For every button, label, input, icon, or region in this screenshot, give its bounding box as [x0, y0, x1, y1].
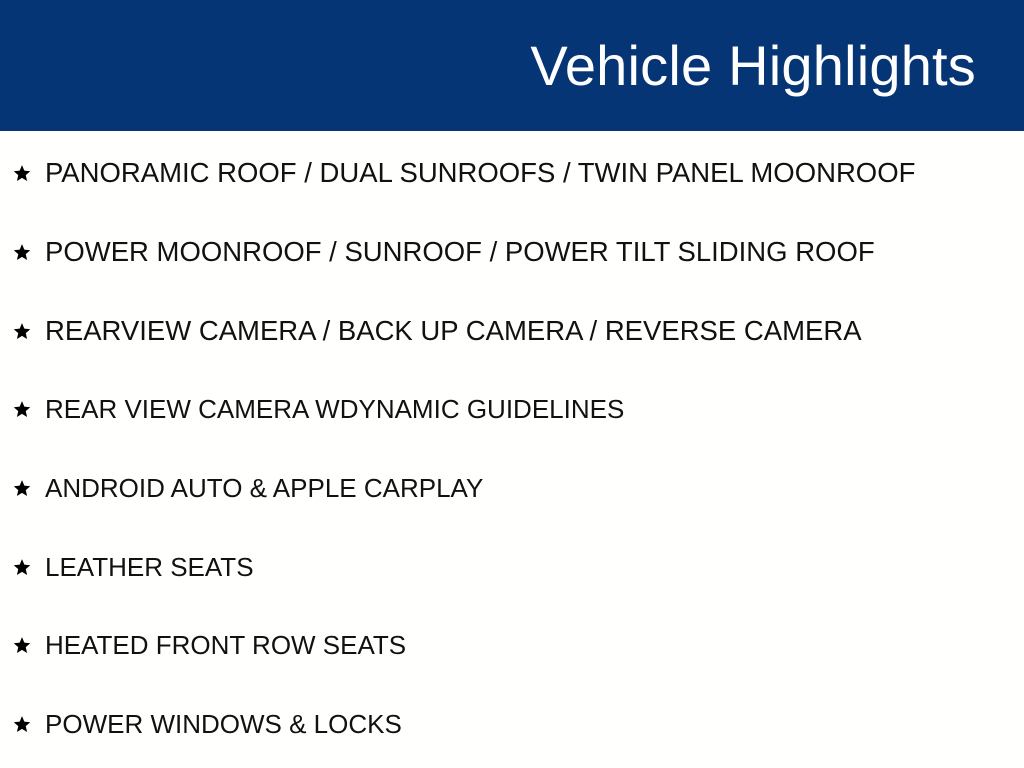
list-item: REARVIEW CAMERA / BACK UP CAMERA / REVER… [13, 311, 1024, 351]
star-icon [13, 239, 31, 265]
star-icon [13, 711, 31, 737]
page-header-banner: Vehicle Highlights [0, 0, 1024, 131]
list-item-label: POWER WINDOWS & LOCKS [45, 710, 402, 739]
list-item-label: ANDROID AUTO & APPLE CARPLAY [45, 474, 483, 503]
list-item: REAR VIEW CAMERA WDYNAMIC GUIDELINES [13, 389, 1024, 429]
star-icon [13, 475, 31, 501]
list-item: POWER WINDOWS & LOCKS [13, 704, 1024, 744]
page-title: Vehicle Highlights [530, 38, 976, 94]
list-item-label: POWER MOONROOF / SUNROOF / POWER TILT SL… [45, 237, 875, 267]
list-item-label: LEATHER SEATS [45, 553, 254, 582]
star-icon [13, 160, 31, 186]
list-item-label: HEATED FRONT ROW SEATS [45, 631, 406, 660]
vehicle-highlights-slide: Vehicle Highlights PANORAMIC ROOF / DUAL… [0, 0, 1024, 768]
star-icon [13, 318, 31, 344]
list-item: PANORAMIC ROOF / DUAL SUNROOFS / TWIN PA… [13, 153, 1024, 193]
vehicle-highlights-list: PANORAMIC ROOF / DUAL SUNROOFS / TWIN PA… [0, 131, 1024, 768]
star-icon [13, 632, 31, 658]
list-item-label: REAR VIEW CAMERA WDYNAMIC GUIDELINES [45, 395, 624, 424]
list-item: HEATED FRONT ROW SEATS [13, 625, 1024, 665]
list-item: ANDROID AUTO & APPLE CARPLAY [13, 468, 1024, 508]
list-item-label: PANORAMIC ROOF / DUAL SUNROOFS / TWIN PA… [45, 158, 915, 188]
list-item-label: REARVIEW CAMERA / BACK UP CAMERA / REVER… [45, 316, 862, 346]
list-item: POWER MOONROOF / SUNROOF / POWER TILT SL… [13, 232, 1024, 272]
star-icon [13, 396, 31, 422]
star-icon [13, 554, 31, 580]
list-item: LEATHER SEATS [13, 547, 1024, 587]
